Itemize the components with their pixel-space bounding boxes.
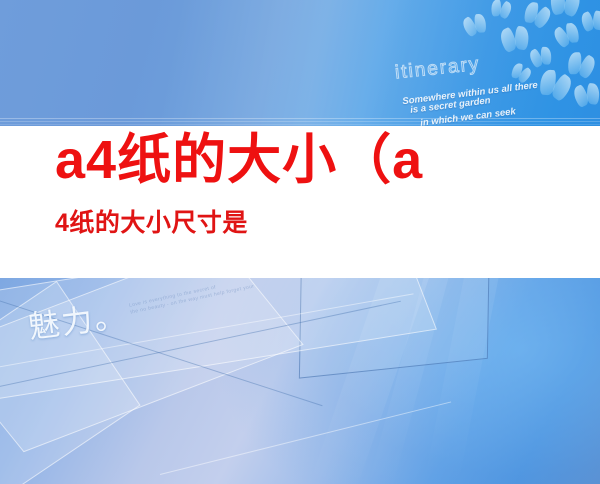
butterfly-icon — [550, 0, 581, 17]
slide-canvas: itinerary Somewhere within us all there … — [0, 0, 600, 484]
butterfly-icon — [490, 0, 513, 19]
title-band: a4纸的大小（a 4纸的大小尺寸是 — [0, 126, 600, 278]
top-banner: itinerary Somewhere within us all there … — [0, 0, 600, 126]
butterfly-icon — [552, 21, 581, 48]
butterfly-icon — [573, 83, 600, 108]
butterfly-icon — [500, 26, 530, 53]
butterfly-icon — [581, 11, 600, 32]
page-title-line1: a4纸的大小（a — [55, 132, 423, 189]
butterfly-icon — [462, 13, 489, 38]
butterfly-icon — [537, 68, 574, 102]
butterfly-icon — [529, 46, 553, 68]
page-title-line2: 4纸的大小尺寸是 — [55, 210, 248, 238]
butterfly-icon — [565, 51, 596, 79]
